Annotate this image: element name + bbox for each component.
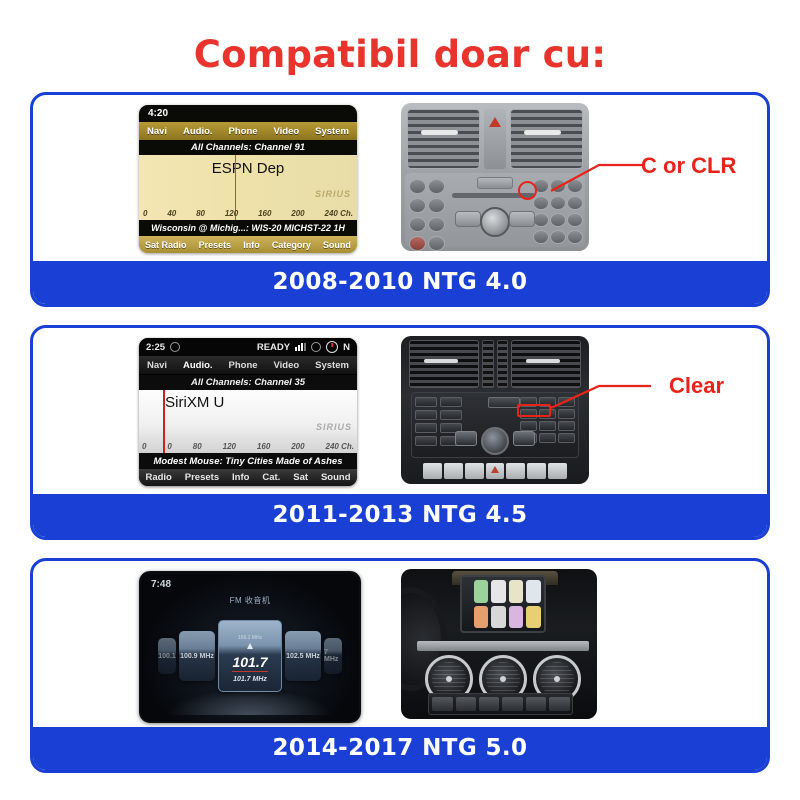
menu-item-audio[interactable]: Audio. — [183, 126, 213, 137]
key-6[interactable] — [533, 213, 549, 227]
app-icon-now-playing[interactable] — [526, 606, 541, 629]
ready-label: READY — [257, 342, 290, 353]
call-button[interactable] — [428, 236, 445, 251]
panel-ntg40: 4:20 Navi Audio. Phone Video System All … — [30, 92, 770, 307]
scale-tick: 160 — [258, 209, 271, 218]
menu-item-system[interactable]: System — [315, 126, 349, 137]
clear-key-highlight-ntg45 — [517, 404, 551, 417]
radio-button[interactable] — [415, 397, 437, 407]
sirius-watermark-icon: SIRIUS — [315, 189, 351, 199]
screen-statusbar-ntg45: 2:25 READY N — [139, 338, 357, 356]
volume-knob[interactable] — [480, 207, 510, 237]
menu-item-navi[interactable]: Navi — [147, 360, 167, 371]
app-icon-radio[interactable] — [509, 606, 524, 629]
frequency-carousel[interactable]: 100.1 100.9 MHz 106.1 MHz 101.7 101.7 MH… — [141, 619, 359, 693]
panel-ntg50: 7:48 FM 收音机 100.1 100.9 MHz 106.1 MHz 10… — [30, 558, 770, 773]
freq-tile-far-left[interactable]: 100.1 — [158, 638, 176, 674]
climate-button[interactable] — [479, 697, 499, 711]
sirius-watermark-icon: SIRIUS — [316, 422, 352, 432]
climate-button[interactable] — [526, 697, 546, 711]
freq-tile-right[interactable]: 102.5 MHz — [285, 631, 321, 681]
eject-button[interactable] — [477, 177, 513, 189]
panel-caption-ntg45: 2011-2013 NTG 4.5 — [33, 494, 767, 537]
freq-tile-left[interactable]: 100.9 MHz — [179, 631, 215, 681]
softkey-info[interactable]: Info — [232, 472, 249, 483]
climate-button[interactable] — [502, 697, 522, 711]
screen-clock-ntg50: 7:48 — [151, 579, 171, 590]
key-2[interactable] — [567, 179, 583, 193]
softkey-sat-radio[interactable]: Sat Radio — [145, 240, 187, 250]
seek-forward-button[interactable] — [509, 211, 535, 227]
climate-button[interactable] — [548, 463, 567, 479]
screen-station-name-ntg45: SiriXM U — [165, 394, 224, 411]
softkey-category[interactable]: Category — [272, 240, 311, 250]
screen-clock-ntg40: 4:20 — [139, 105, 357, 122]
hazard-light-button[interactable] — [484, 109, 506, 169]
screen-ticker-ntg45: Modest Mouse: Tiny Cities Made of Ashes — [139, 453, 357, 469]
app-icon-music[interactable] — [491, 580, 506, 603]
scale-tick: 120 — [223, 442, 236, 451]
key-1[interactable] — [550, 179, 566, 193]
softkey-cat[interactable]: Cat. — [262, 472, 280, 483]
key-3[interactable] — [533, 196, 549, 210]
air-vents-icon — [409, 340, 581, 388]
compass-icon — [326, 341, 338, 353]
key-4[interactable] — [550, 196, 566, 210]
end-call-button[interactable] — [409, 236, 426, 251]
nav-button[interactable] — [409, 198, 426, 213]
menu-item-navi[interactable]: Navi — [147, 126, 167, 137]
screen-menubar-ntg40: Navi Audio. Phone Video System — [139, 122, 357, 140]
callout-label-ntg45: Clear — [669, 373, 724, 399]
screen-station-name-ntg40: ESPN Dep — [212, 160, 285, 177]
scale-tick: 160 — [257, 442, 270, 451]
app-icon-podcast[interactable] — [474, 606, 489, 629]
headunit-screen-ntg50: 7:48 FM 收音机 100.1 100.9 MHz 106.1 MHz 10… — [139, 571, 357, 719]
scale-tick: 0 — [142, 442, 146, 451]
screen-softkeys-ntg45: Radio Presets Info Cat. Sat Sound — [139, 469, 357, 486]
panel-body-ntg50: 7:48 FM 收音机 100.1 100.9 MHz 106.1 MHz 10… — [33, 561, 767, 727]
softkey-info[interactable]: Info — [243, 240, 260, 250]
head-unit-faceplate — [405, 173, 585, 247]
scale-tick: 0 — [143, 209, 147, 218]
back-button[interactable] — [409, 217, 426, 232]
volume-knob[interactable] — [481, 427, 509, 455]
clear-button[interactable] — [488, 397, 520, 408]
climate-button[interactable] — [432, 697, 452, 711]
hazard-light-button[interactable] — [486, 463, 505, 479]
screen-glow-effect — [167, 689, 333, 715]
app-icon-audiobooks[interactable] — [491, 606, 506, 629]
panel-caption-ntg40: 2008-2010 NTG 4.0 — [33, 261, 767, 304]
climate-button[interactable] — [423, 463, 442, 479]
scale-tick: 240 Ch. — [326, 442, 354, 451]
key-5[interactable] — [567, 196, 583, 210]
softkey-presets[interactable]: Presets — [185, 472, 219, 483]
key-7[interactable] — [550, 213, 566, 227]
key-7[interactable] — [520, 421, 537, 431]
screen-channel-line-ntg40: All Channels: Channel 91 — [139, 140, 357, 155]
freq-tile-selected[interactable]: 106.1 MHz 101.7 101.7 MHz — [218, 620, 282, 692]
head-unit-faceplate — [411, 392, 579, 458]
signal-strength-icon — [295, 343, 306, 351]
panel-ntg45: 2:25 READY N Navi Audio. Phone Video — [30, 325, 770, 540]
menu-item-phone[interactable]: Phone — [229, 126, 258, 137]
key-8[interactable] — [567, 213, 583, 227]
sys-button[interactable] — [428, 217, 445, 232]
headunit-screen-ntg45: 2:25 READY N Navi Audio. Phone Video — [139, 338, 357, 486]
function-button-group — [409, 179, 443, 251]
scale-tick: 40 — [167, 209, 176, 218]
scale-tick: 200 — [291, 442, 304, 451]
key-0[interactable] — [539, 433, 556, 443]
phone-icon — [311, 342, 321, 352]
nav-button[interactable] — [415, 410, 437, 420]
app-icon-messages[interactable] — [526, 580, 541, 603]
app-icon-phone[interactable] — [474, 580, 489, 603]
disc-button[interactable] — [440, 397, 462, 407]
seek-back-button[interactable] — [455, 431, 477, 446]
softkey-radio[interactable]: Radio — [145, 472, 171, 483]
scale-tick: 80 — [193, 442, 202, 451]
dashboard-photo-ntg45 — [401, 336, 661, 488]
clear-key-highlight-ntg40 — [518, 181, 537, 200]
screen-clock-ntg45: 2:25 — [146, 342, 165, 353]
softkey-sound[interactable]: Sound — [321, 472, 351, 483]
softkey-sat[interactable]: Sat — [293, 472, 308, 483]
dashboard-photo-ntg40 — [401, 103, 661, 255]
key-3[interactable] — [558, 397, 575, 407]
key-9[interactable] — [533, 230, 549, 244]
panel-body-ntg45: 2:25 READY N Navi Audio. Phone Video — [33, 328, 767, 494]
radio-button[interactable] — [409, 179, 426, 194]
key-9[interactable] — [558, 421, 575, 431]
current-frequency-unit: 101.7 MHz — [233, 676, 267, 683]
current-frequency: 101.7 — [232, 654, 267, 672]
scale-tick: 120 — [225, 209, 238, 218]
screen-menubar-ntg45: Navi Audio. Phone Video System — [139, 356, 357, 375]
dashboard-photo-ntg50 — [401, 569, 661, 721]
menu-item-video[interactable]: Video — [274, 126, 300, 137]
key-hash[interactable] — [558, 433, 575, 443]
disc-button[interactable] — [428, 179, 445, 194]
heading-label: N — [343, 342, 350, 353]
climate-button[interactable] — [527, 463, 546, 479]
tel-button[interactable] — [440, 410, 462, 420]
scale-tick: 80 — [196, 209, 205, 218]
menu-item-system[interactable]: System — [315, 360, 349, 371]
screen-tuner-area-ntg45: SiriXM U SIRIUS 0 0 80 120 160 200 240 C… — [139, 390, 357, 453]
air-vents-icon — [407, 109, 583, 169]
end-call-button[interactable] — [415, 436, 437, 446]
screen-ticker-ntg40: Wisconsin @ Michig...: WIS-20 MICHST-22 … — [139, 220, 357, 236]
tuner-marker-icon — [247, 643, 253, 649]
climate-button[interactable] — [465, 463, 484, 479]
headunit-screen-ntg40: 4:20 Navi Audio. Phone Video System All … — [139, 105, 357, 253]
key-star[interactable] — [550, 230, 566, 244]
screen-header-ntg50: FM 收音机 — [141, 595, 359, 606]
panel-body-ntg40: 4:20 Navi Audio. Phone Video System All … — [33, 95, 767, 261]
dashboard-trim — [417, 641, 590, 651]
callout-label-ntg40: C or CLR — [641, 153, 736, 179]
app-icon-maps[interactable] — [509, 580, 524, 603]
climate-control-panel — [428, 693, 573, 715]
key-0[interactable] — [567, 230, 583, 244]
climate-button[interactable] — [456, 697, 476, 711]
seek-forward-button[interactable] — [513, 431, 535, 446]
freq-tile-far-right[interactable]: 7 MHz — [324, 638, 342, 674]
scale-tick: 240 Ch. — [325, 209, 353, 218]
back-button[interactable] — [415, 423, 437, 433]
screen-scale-ntg45: 0 0 80 120 160 200 240 Ch. — [139, 442, 357, 451]
carplay-app-grid — [465, 580, 541, 628]
menu-item-phone[interactable]: Phone — [229, 360, 258, 371]
screen-scale-ntg40: 0 40 80 120 160 200 240 Ch. — [139, 209, 357, 218]
menu-item-video[interactable]: Video — [274, 360, 300, 371]
climate-button[interactable] — [506, 463, 525, 479]
screen-softkeys-ntg40: Sat Radio Presets Info Category Sound — [139, 236, 357, 253]
panel-list: 4:20 Navi Audio. Phone Video System All … — [0, 80, 800, 773]
tel-button[interactable] — [428, 198, 445, 213]
climate-button[interactable] — [549, 697, 569, 711]
numeric-keypad — [533, 179, 581, 244]
seek-back-button[interactable] — [455, 211, 481, 227]
climate-button-strip — [423, 463, 567, 479]
key-6[interactable] — [558, 409, 575, 419]
panel-caption-ntg50: 2014-2017 NTG 5.0 — [33, 727, 767, 770]
key-8[interactable] — [539, 421, 556, 431]
screen-channel-line-ntg45: All Channels: Channel 35 — [139, 375, 357, 390]
scale-tick: 200 — [291, 209, 304, 218]
freq-tile-top-label: 106.1 MHz — [238, 635, 262, 641]
menu-item-audio[interactable]: Audio. — [183, 360, 213, 371]
screen-tuner-area-ntg40: ESPN Dep SIRIUS 0 40 80 120 160 200 240 … — [139, 155, 357, 220]
disc-status-icon — [170, 342, 180, 352]
softkey-presets[interactable]: Presets — [199, 240, 232, 250]
climate-button[interactable] — [444, 463, 463, 479]
softkey-sound[interactable]: Sound — [323, 240, 351, 250]
page-title: Compatibil doar cu: — [0, 0, 800, 80]
scale-tick: 0 — [167, 442, 171, 451]
carplay-display[interactable] — [460, 575, 546, 633]
